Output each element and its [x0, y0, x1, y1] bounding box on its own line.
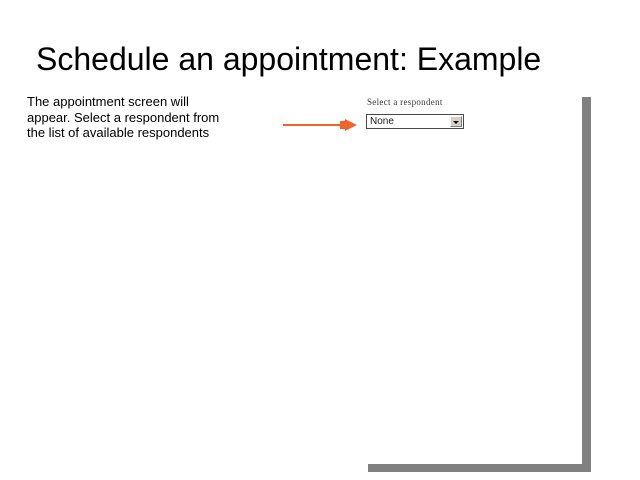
arrow-head [345, 119, 357, 131]
body-text-line: appear. Select a respondent from [27, 110, 252, 126]
shadow-frame-vertical [582, 97, 591, 472]
slide-title: Schedule an appointment: Example [36, 40, 616, 78]
arrow-shaft [283, 124, 347, 126]
chevron-down-icon[interactable] [450, 116, 462, 127]
slide-body-text: The appointment screen will appear. Sele… [27, 94, 252, 141]
app-screenshot-fragment: Select a respondent None [366, 97, 470, 129]
presentation-slide: Schedule an appointment: Example The app… [0, 0, 640, 480]
respondent-select-value: None [370, 116, 394, 128]
arrow-right-icon [283, 117, 365, 134]
body-text-line: the list of available respondents [27, 125, 252, 141]
shadow-frame-horizontal [368, 464, 582, 472]
respondent-select[interactable]: None [366, 114, 464, 129]
body-text-line: The appointment screen will [27, 94, 252, 110]
chevron-down-glyph [453, 121, 459, 124]
respondent-select-label: Select a respondent [366, 97, 470, 108]
